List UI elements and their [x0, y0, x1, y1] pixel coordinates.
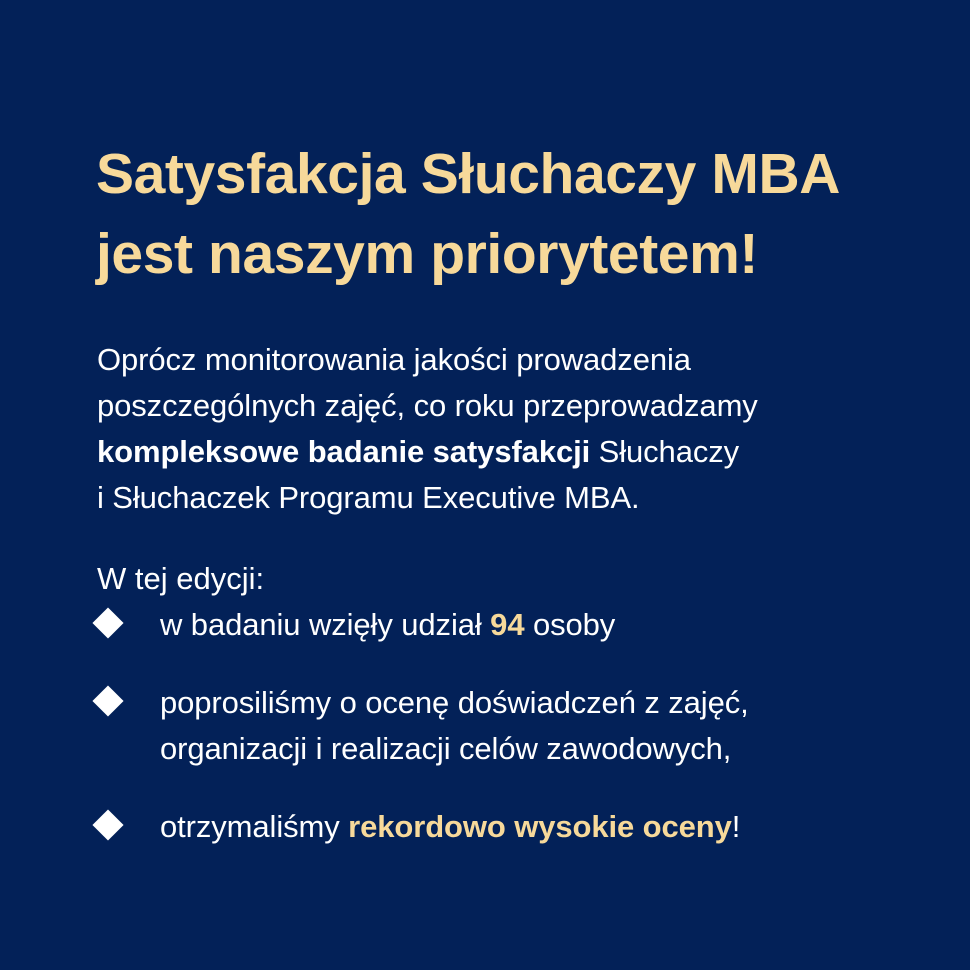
- intro-line-4: i Słuchaczek Programu Executive MBA.: [97, 475, 857, 521]
- intro-line-2: poszczególnych zajęć, co roku przeprowad…: [97, 383, 857, 429]
- intro-emphasis: kompleksowe badanie satysfakcji: [97, 434, 590, 469]
- intro-paragraph: Oprócz monitorowania jakości prowadzenia…: [97, 337, 857, 521]
- bullet-1-line-1: w badaniu wzięły udział 94 osoby: [160, 602, 887, 648]
- list-item: poprosiliśmy o ocenę doświadczeń z zajęć…: [97, 680, 887, 772]
- headline-line-2: jest naszym priorytetem!: [96, 214, 836, 294]
- list-item: w badaniu wzięły udział 94 osoby: [97, 602, 887, 648]
- intro-line-3-rest: Słuchaczy: [590, 434, 739, 469]
- diamond-bullet-icon: [92, 809, 123, 840]
- bullet-3-text-pre: otrzymaliśmy: [160, 809, 348, 844]
- bullet-3-line-1: otrzymaliśmy rekordowo wysokie oceny!: [160, 804, 887, 850]
- bullet-2-line-1: poprosiliśmy o ocenę doświadczeń z zajęć…: [160, 680, 887, 726]
- intro-line-1: Oprócz monitorowania jakości prowadzenia: [97, 337, 857, 383]
- diamond-bullet-icon: [92, 607, 123, 638]
- bullet-2-line-2: organizacji i realizacji celów zawodowyc…: [160, 726, 887, 772]
- bullet-3-text-post: !: [732, 809, 741, 844]
- lead-in-text: W tej edycji:: [97, 556, 264, 602]
- record-scores-emphasis: rekordowo wysokie oceny: [348, 809, 732, 844]
- bullet-1-text-pre: w badaniu wzięły udział: [160, 607, 490, 642]
- diamond-bullet-icon: [92, 685, 123, 716]
- headline-line-1: Satysfakcja Słuchaczy MBA: [96, 134, 836, 214]
- promo-card: Satysfakcja Słuchaczy MBA jest naszym pr…: [0, 0, 970, 970]
- intro-line-3: kompleksowe badanie satysfakcji Słuchacz…: [97, 429, 857, 475]
- page-title: Satysfakcja Słuchaczy MBA jest naszym pr…: [96, 134, 836, 294]
- bullet-1-text-post: osoby: [524, 607, 615, 642]
- highlights-list: w badaniu wzięły udział 94 osoby poprosi…: [97, 602, 887, 850]
- participant-count: 94: [490, 607, 524, 642]
- list-item: otrzymaliśmy rekordowo wysokie oceny!: [97, 804, 887, 850]
